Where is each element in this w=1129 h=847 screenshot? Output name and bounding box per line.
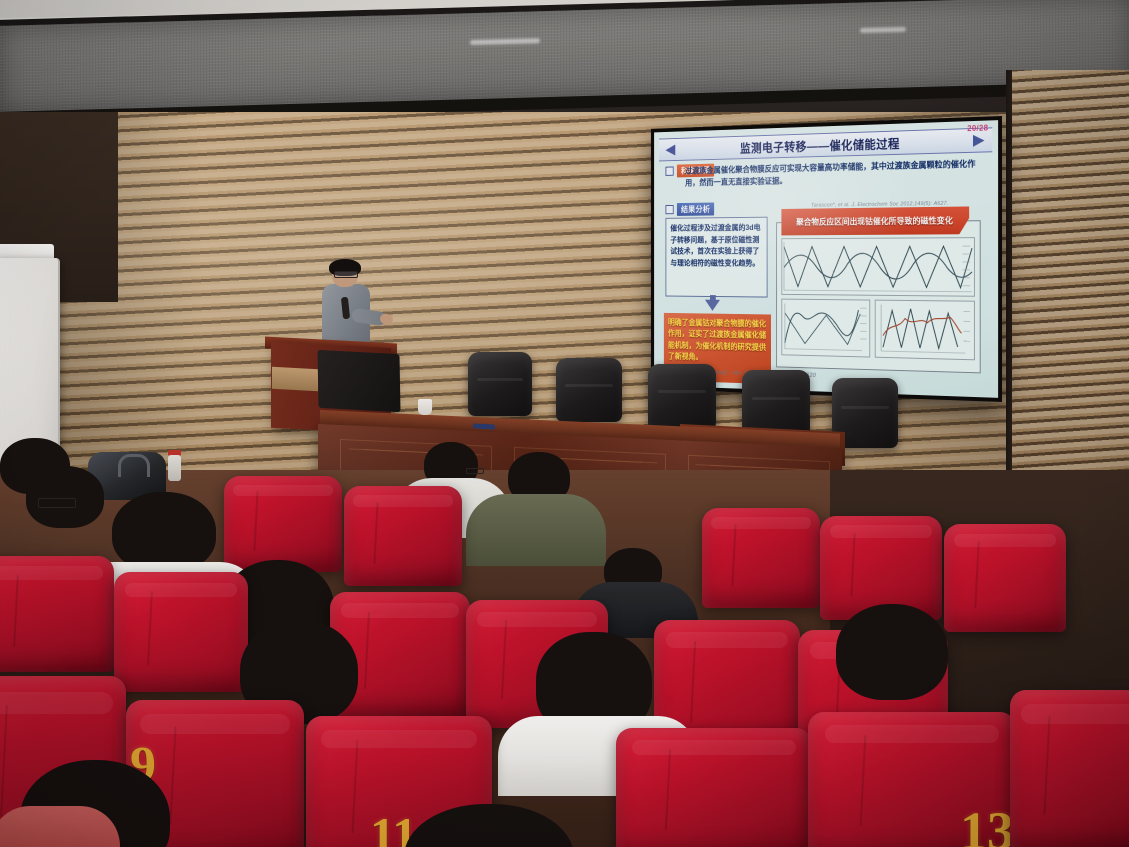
seat-crease <box>352 740 359 833</box>
auditorium-seat-r2c1[interactable] <box>114 572 248 692</box>
seat-crease <box>731 524 736 586</box>
chart-panel-bottom-right <box>875 300 975 361</box>
slide-chart-banner: 聚合物反应区间出现钴催化所导致的磁性变化 <box>781 206 969 235</box>
seat-crease <box>170 726 177 825</box>
speaker-glasses-icon <box>334 271 358 278</box>
checkbox-icon <box>665 167 673 176</box>
audience-head-c3 <box>836 604 948 700</box>
title-arrow-right-icon <box>973 134 985 146</box>
auditorium-seat-r2c0[interactable] <box>0 556 114 672</box>
audience-head-b3 <box>112 492 216 572</box>
auditorium-seat-r1c2[interactable] <box>344 486 462 586</box>
bullet-results-analysis: 结果分析 <box>665 203 714 217</box>
auditorium-seat-r3c5[interactable] <box>1010 690 1129 847</box>
audience-glasses-icon-2 <box>38 498 76 508</box>
slide-title-bar: 监测电子转移——催化储能过程 <box>659 127 992 161</box>
auditorium-seat-r3c3[interactable] <box>616 728 812 847</box>
slide-page-number: 20/28 <box>967 123 988 133</box>
chart-br-svg <box>876 301 974 360</box>
projection-screen-surface: 监测电子转移——催化储能过程 20/28 科学问题 过渡族金属催化聚合物膜反应可… <box>654 120 998 398</box>
seat-crease <box>850 533 855 597</box>
audience-shoulders-front-1 <box>0 806 120 847</box>
slide-title: 监测电子转移——催化储能过程 <box>740 133 900 156</box>
chair-backrest <box>468 352 532 416</box>
audience-shoulders-a2 <box>466 494 606 566</box>
seat-crease <box>501 620 507 699</box>
projection-screen-frame: 监测电子转移——催化储能过程 20/28 科学问题 过渡族金属催化聚合物膜反应可… <box>651 116 1002 402</box>
chart-bl-svg <box>782 300 869 357</box>
office-chair-1[interactable] <box>468 352 532 416</box>
seat-crease <box>860 735 867 825</box>
auditorium-seat-r1c5[interactable] <box>944 524 1066 632</box>
lectern-shelf <box>272 367 318 391</box>
paper-cup[interactable] <box>418 399 432 415</box>
chart-panel-top <box>781 237 975 297</box>
seat-crease <box>974 541 980 608</box>
seat-crease <box>0 705 8 817</box>
seat-crease <box>1044 716 1051 815</box>
slide-text-box: 催化过程涉及过渡金属的3d电子转移问题，基于原位磁性测试技术，首次在实验上获得了… <box>665 217 767 298</box>
backpack-strap <box>118 454 150 477</box>
laptop-on-lectern[interactable] <box>318 350 401 412</box>
seat-crease <box>364 612 370 689</box>
title-arrow-left-icon <box>665 144 675 155</box>
down-arrow-icon <box>705 300 720 311</box>
chart-top-svg <box>782 238 974 296</box>
seat-crease <box>13 575 19 647</box>
checkbox-icon-2 <box>665 205 673 214</box>
chair-backrest <box>556 358 622 422</box>
slide-paragraph-1: 过渡族金属催化聚合物膜反应可实现大容量高功率储能，其中过渡族金属颗粒的催化作用，… <box>685 157 990 189</box>
chart-panel-bottom-left <box>781 299 870 358</box>
seat-crease <box>147 591 153 665</box>
seat-number-13: 13 <box>960 800 1014 847</box>
office-chair-2[interactable] <box>556 358 622 422</box>
audience-head-b2 <box>26 466 104 528</box>
audience-glasses-icon <box>466 468 484 474</box>
chair-backrest <box>648 364 716 430</box>
office-chair-3[interactable] <box>648 364 716 430</box>
lecture-hall-photo: 监测电子转移——催化储能过程 20/28 科学问题 过渡族金属催化聚合物膜反应可… <box>0 0 1129 847</box>
seat-crease <box>665 749 671 830</box>
seat-crease <box>373 502 378 564</box>
blue-pen[interactable] <box>473 423 495 429</box>
seat-crease <box>690 641 696 723</box>
presentation-slide: 监测电子转移——催化储能过程 20/28 科学问题 过渡族金属催化聚合物膜反应可… <box>654 120 998 398</box>
auditorium-seat-r1c1[interactable] <box>224 476 342 572</box>
water-bottle[interactable] <box>168 455 181 481</box>
seat-crease <box>253 491 258 551</box>
auditorium-seat-r1c3[interactable] <box>702 508 820 608</box>
tag-results-analysis: 结果分析 <box>677 203 714 216</box>
slide-chart-container <box>776 220 980 373</box>
